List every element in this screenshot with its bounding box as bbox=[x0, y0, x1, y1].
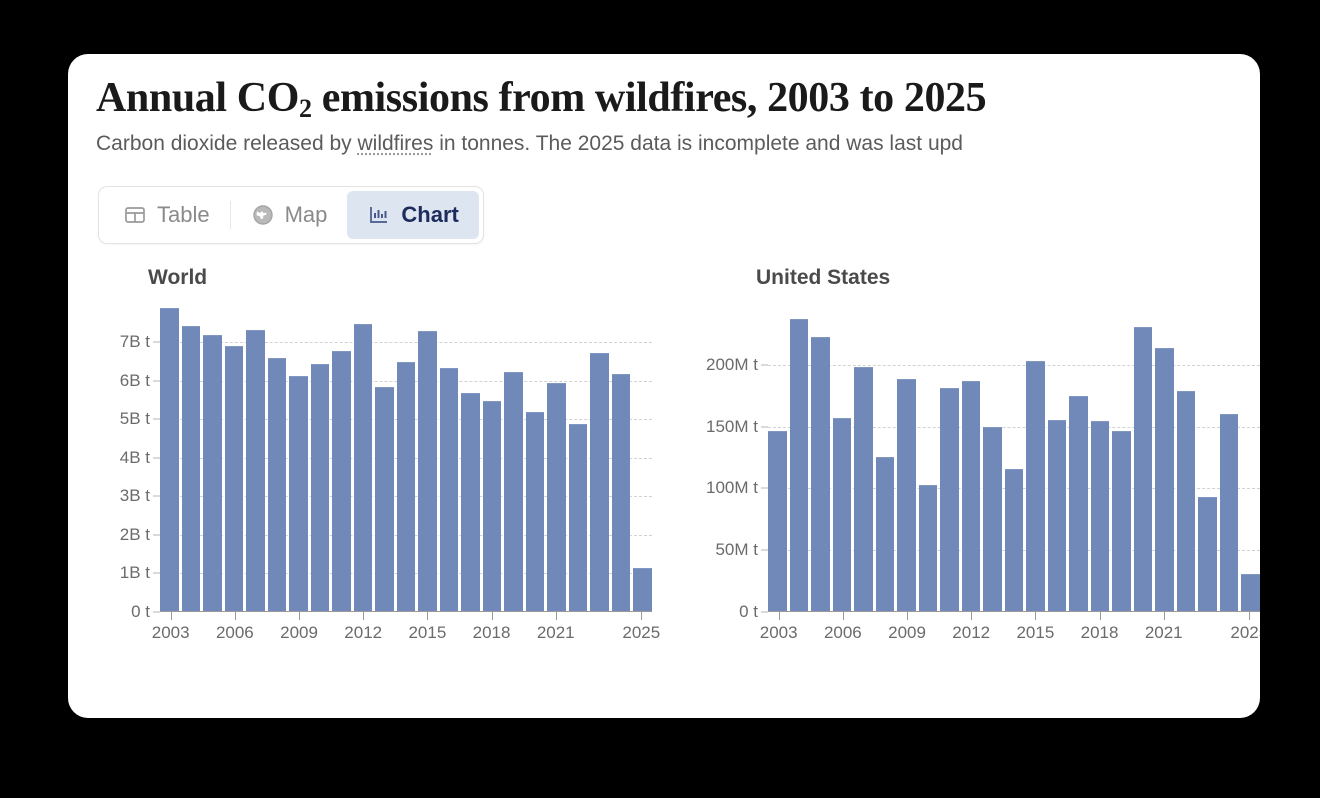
bar[interactable] bbox=[354, 324, 373, 611]
bar[interactable] bbox=[790, 319, 809, 611]
x-tick-mark bbox=[171, 612, 172, 620]
bar-series-united-states bbox=[768, 304, 1260, 611]
x-tick-label: 2015 bbox=[408, 623, 446, 643]
chart-card: Annual CO2 emissions from wildfires, 200… bbox=[68, 54, 1260, 718]
chart-title-world: World bbox=[148, 266, 652, 290]
y-tick-mark bbox=[153, 342, 160, 343]
bar[interactable] bbox=[1134, 327, 1153, 610]
y-tick-label: 0 t bbox=[131, 602, 150, 622]
bar[interactable] bbox=[612, 374, 631, 611]
plot-area-united-states: 0 t50M t100M t150M t200M t 2003200620092… bbox=[706, 304, 1260, 644]
bar[interactable] bbox=[1005, 469, 1024, 611]
y-tick-label: 100M t bbox=[706, 478, 758, 498]
y-tick-label: 6B t bbox=[120, 371, 150, 391]
bar[interactable] bbox=[1241, 574, 1260, 611]
x-tick-label: 2021 bbox=[1145, 623, 1183, 643]
x-tick-label: 2025 bbox=[1230, 623, 1260, 643]
x-tick-mark bbox=[641, 612, 642, 620]
y-tick-mark bbox=[153, 457, 160, 458]
x-tick-label: 2009 bbox=[280, 623, 318, 643]
bar[interactable] bbox=[983, 427, 1002, 611]
table-icon bbox=[123, 203, 147, 227]
x-tick-label: 2018 bbox=[1081, 623, 1119, 643]
y-tick-mark bbox=[153, 419, 160, 420]
y-tick-label: 200M t bbox=[706, 355, 758, 375]
bar[interactable] bbox=[461, 393, 480, 611]
x-tick-label: 2015 bbox=[1016, 623, 1054, 643]
x-tick-label: 2018 bbox=[473, 623, 511, 643]
y-tick-mark bbox=[153, 380, 160, 381]
bar[interactable] bbox=[246, 330, 265, 611]
bar-chart-icon bbox=[367, 203, 391, 227]
y-tick-label: 4B t bbox=[120, 448, 150, 468]
x-tick-label: 2025 bbox=[622, 623, 660, 643]
x-tick-label: 2006 bbox=[824, 623, 862, 643]
bar[interactable] bbox=[811, 337, 830, 611]
plot-canvas-united-states bbox=[768, 304, 1260, 612]
bar[interactable] bbox=[483, 401, 502, 611]
x-tick-label: 2012 bbox=[952, 623, 990, 643]
bar[interactable] bbox=[225, 346, 244, 611]
plot-canvas-world bbox=[160, 304, 652, 612]
bar[interactable] bbox=[1048, 420, 1067, 611]
bar[interactable] bbox=[526, 412, 545, 610]
chart-panel-world: World 0 t1B t2B t3B t4B t5B t6B t7B t 20… bbox=[98, 266, 652, 644]
bar[interactable] bbox=[833, 418, 852, 610]
bar[interactable] bbox=[940, 388, 959, 611]
view-tabbar: Table Map bbox=[98, 186, 484, 244]
page-title-suffix: emissions from wildfires, 2003 to 2025 bbox=[312, 75, 987, 121]
y-tick-mark bbox=[761, 488, 768, 489]
x-tick-mark bbox=[299, 612, 300, 620]
page-title-prefix: Annual CO bbox=[96, 75, 299, 121]
y-tick-label: 0 t bbox=[739, 602, 758, 622]
page-title-subscript: 2 bbox=[299, 94, 312, 123]
bar[interactable] bbox=[311, 364, 330, 610]
x-tick-label: 2021 bbox=[537, 623, 575, 643]
bar[interactable] bbox=[504, 372, 523, 611]
y-tick-label: 3B t bbox=[120, 486, 150, 506]
x-tick-mark bbox=[235, 612, 236, 620]
x-tick-mark bbox=[492, 612, 493, 620]
x-tick-label: 2006 bbox=[216, 623, 254, 643]
bar[interactable] bbox=[332, 351, 351, 611]
x-tick-mark bbox=[363, 612, 364, 620]
bar[interactable] bbox=[897, 379, 916, 611]
y-tick-label: 5B t bbox=[120, 409, 150, 429]
bar[interactable] bbox=[1069, 396, 1088, 610]
y-tick-label: 1B t bbox=[120, 563, 150, 583]
bar[interactable] bbox=[160, 308, 179, 610]
x-tick-label: 2012 bbox=[344, 623, 382, 643]
chart-title-united-states: United States bbox=[756, 266, 1260, 290]
bar[interactable] bbox=[182, 326, 201, 611]
y-tick-mark bbox=[153, 573, 160, 574]
bar[interactable] bbox=[440, 368, 459, 611]
x-tick-label: 2003 bbox=[760, 623, 798, 643]
bar[interactable] bbox=[1220, 414, 1239, 611]
tab-chart[interactable]: Chart bbox=[347, 191, 478, 239]
globe-icon bbox=[251, 203, 275, 227]
subtitle-text-after: in tonnes. The 2025 data is incomplete a… bbox=[433, 132, 963, 155]
bar[interactable] bbox=[633, 568, 652, 610]
y-tick-mark bbox=[761, 365, 768, 366]
x-tick-mark bbox=[971, 612, 972, 620]
y-tick-mark bbox=[153, 611, 160, 612]
x-tick-mark bbox=[1100, 612, 1101, 620]
bar[interactable] bbox=[1112, 431, 1131, 611]
x-tick-mark bbox=[556, 612, 557, 620]
x-tick-mark bbox=[843, 612, 844, 620]
x-axis-united-states: 20032006200920122015201820212025 bbox=[768, 612, 1260, 646]
bar[interactable] bbox=[876, 457, 895, 611]
bar[interactable] bbox=[203, 335, 222, 610]
x-axis-world: 20032006200920122015201820212025 bbox=[160, 612, 652, 646]
tab-map-label: Map bbox=[285, 202, 328, 228]
bar[interactable] bbox=[1026, 361, 1045, 611]
y-tick-mark bbox=[761, 550, 768, 551]
y-tick-mark bbox=[761, 426, 768, 427]
x-tick-mark bbox=[907, 612, 908, 620]
y-tick-label: 7B t bbox=[120, 332, 150, 352]
y-tick-label: 150M t bbox=[706, 417, 758, 437]
y-tick-mark bbox=[153, 496, 160, 497]
tab-table[interactable]: Table bbox=[103, 191, 230, 239]
y-tick-label: 50M t bbox=[715, 540, 758, 560]
bar[interactable] bbox=[268, 358, 287, 610]
x-tick-mark bbox=[779, 612, 780, 620]
y-axis-united-states: 0 t50M t100M t150M t200M t bbox=[706, 304, 768, 612]
card-header: Annual CO2 emissions from wildfires, 200… bbox=[96, 54, 1260, 244]
x-tick-label: 2009 bbox=[888, 623, 926, 643]
plot-area-world: 0 t1B t2B t3B t4B t5B t6B t7B t 20032006… bbox=[98, 304, 652, 644]
y-axis-world: 0 t1B t2B t3B t4B t5B t6B t7B t bbox=[98, 304, 160, 612]
charts-container: World 0 t1B t2B t3B t4B t5B t6B t7B t 20… bbox=[98, 266, 1260, 644]
bar[interactable] bbox=[1177, 391, 1196, 610]
bar[interactable] bbox=[289, 376, 308, 611]
bar[interactable] bbox=[1155, 348, 1174, 610]
bar[interactable] bbox=[590, 353, 609, 611]
tab-map[interactable]: Map bbox=[231, 191, 348, 239]
x-tick-mark bbox=[1249, 612, 1250, 620]
bar[interactable] bbox=[375, 387, 394, 610]
bar[interactable] bbox=[919, 485, 938, 611]
x-tick-label: 2003 bbox=[152, 623, 190, 643]
screenshot-viewport: Annual CO2 emissions from wildfires, 200… bbox=[0, 0, 1320, 798]
page-subtitle: Carbon dioxide released by wildfires in … bbox=[96, 131, 1260, 157]
bar[interactable] bbox=[1198, 497, 1217, 610]
y-tick-mark bbox=[761, 611, 768, 612]
subtitle-text-before: Carbon dioxide released by bbox=[96, 132, 358, 155]
bar[interactable] bbox=[418, 331, 437, 610]
bar[interactable] bbox=[569, 424, 588, 611]
bar[interactable] bbox=[547, 383, 566, 610]
bar-series-world bbox=[160, 304, 652, 611]
bar[interactable] bbox=[854, 367, 873, 611]
x-tick-mark bbox=[427, 612, 428, 620]
bar[interactable] bbox=[397, 362, 416, 610]
y-tick-mark bbox=[153, 534, 160, 535]
bar[interactable] bbox=[962, 381, 981, 610]
y-tick-label: 2B t bbox=[120, 525, 150, 545]
bar[interactable] bbox=[768, 431, 787, 611]
page-title: Annual CO2 emissions from wildfires, 200… bbox=[96, 76, 1260, 121]
wildfires-link[interactable]: wildfires bbox=[358, 132, 434, 155]
x-tick-mark bbox=[1035, 612, 1036, 620]
tab-table-label: Table bbox=[157, 202, 210, 228]
chart-panel-united-states: United States 0 t50M t100M t150M t200M t… bbox=[706, 266, 1260, 644]
x-tick-mark bbox=[1164, 612, 1165, 620]
bar[interactable] bbox=[1091, 421, 1110, 611]
tab-chart-label: Chart bbox=[401, 202, 458, 228]
